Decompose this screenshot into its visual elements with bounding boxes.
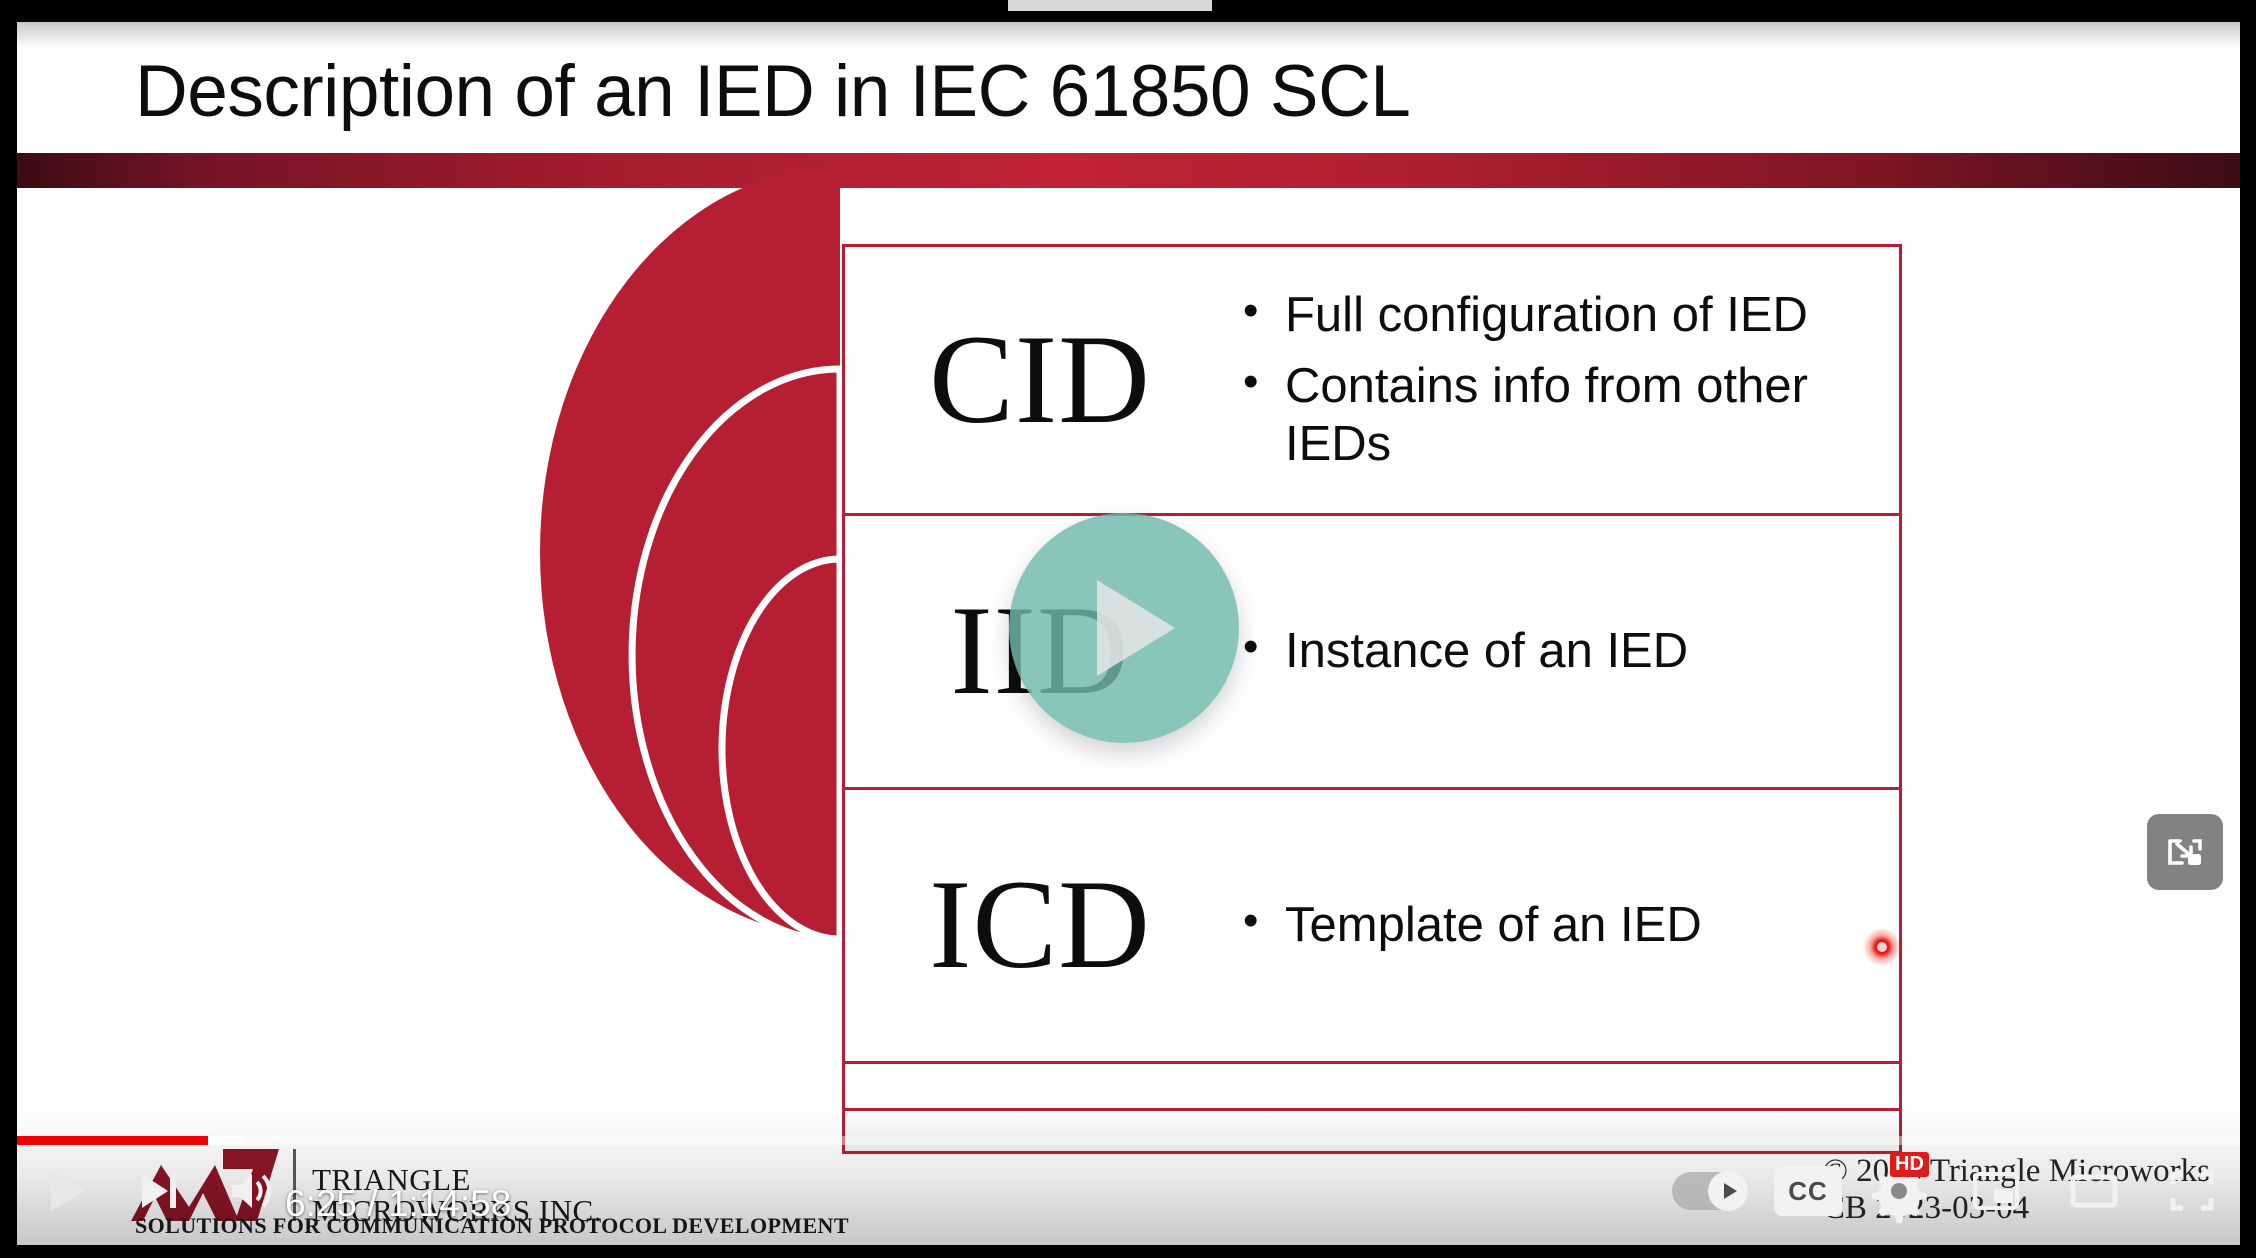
letterbox-right xyxy=(2240,0,2256,1258)
table-row-empty xyxy=(842,1061,1902,1111)
video-player[interactable]: Description of an IED in IEC 61850 SCL C… xyxy=(0,0,2256,1258)
next-button[interactable] xyxy=(123,1155,195,1227)
volume-icon xyxy=(227,1168,275,1214)
table-row: CID Full configuration of IED Contains i… xyxy=(842,244,1902,516)
letterbox-bottom xyxy=(0,1245,2256,1258)
autoplay-toggle[interactable] xyxy=(1672,1172,1748,1210)
row-bullets: Instance of an IED xyxy=(1235,623,1899,680)
autoplay-play-icon xyxy=(1724,1183,1737,1199)
theater-button[interactable] xyxy=(2058,1155,2130,1227)
next-track-icon xyxy=(136,1168,182,1214)
scl-file-types-table: CID Full configuration of IED Contains i… xyxy=(842,244,1902,1160)
list-item: Instance of an IED xyxy=(1235,623,1877,680)
fullscreen-button[interactable] xyxy=(2156,1155,2228,1227)
hd-badge: HD xyxy=(1890,1152,1929,1177)
play-icon xyxy=(45,1167,89,1215)
volume-button[interactable] xyxy=(215,1155,287,1227)
laser-pointer-core xyxy=(1877,942,1887,952)
player-controls[interactable]: 6:25 / 1:14:58 CC HD xyxy=(17,1127,2240,1245)
miniplayer-button[interactable] xyxy=(1960,1155,2032,1227)
nested-semicircles-graphic xyxy=(260,147,840,937)
row-bullets: Full configuration of IED Contains info … xyxy=(1235,287,1899,473)
row-bullets: Template of an IED xyxy=(1235,897,1899,954)
controls-right-group: CC HD xyxy=(1672,1155,2228,1227)
table-row: ICD Template of an IED xyxy=(842,787,1902,1064)
table-row: IID Instance of an IED xyxy=(842,513,1902,790)
list-item: Template of an IED xyxy=(1235,897,1877,954)
autoplay-knob xyxy=(1708,1171,1748,1211)
row-key-label: ICD xyxy=(845,862,1235,989)
settings-button[interactable]: HD xyxy=(1868,1158,1934,1224)
row-key-label: CID xyxy=(845,317,1235,444)
scrollbar-ghost xyxy=(1008,0,1212,11)
progress-bar-fill xyxy=(17,1136,208,1145)
theater-mode-icon xyxy=(2068,1167,2120,1215)
big-play-button[interactable] xyxy=(1009,513,1239,743)
list-item: Full configuration of IED xyxy=(1235,287,1877,344)
play-icon xyxy=(1097,580,1175,676)
captions-button[interactable]: CC xyxy=(1774,1166,1842,1216)
fullscreen-icon xyxy=(2167,1167,2217,1215)
letterbox-left xyxy=(0,0,17,1258)
play-button[interactable] xyxy=(31,1155,103,1227)
miniplayer-float-button[interactable] xyxy=(2147,814,2223,890)
slide-title-area: Description of an IED in IEC 61850 SCL xyxy=(17,22,2240,144)
progress-bar-track[interactable] xyxy=(17,1136,2240,1145)
miniplayer-icon xyxy=(1970,1167,2022,1215)
list-item: Contains info from other IEDs xyxy=(1235,358,1877,473)
time-display: 6:25 / 1:14:58 xyxy=(285,1183,511,1225)
picture-in-picture-icon xyxy=(2163,830,2207,874)
controls-left-group xyxy=(31,1155,287,1227)
page-title: Description of an IED in IEC 61850 SCL xyxy=(135,50,1410,133)
laser-pointer-dot xyxy=(1863,928,1901,966)
